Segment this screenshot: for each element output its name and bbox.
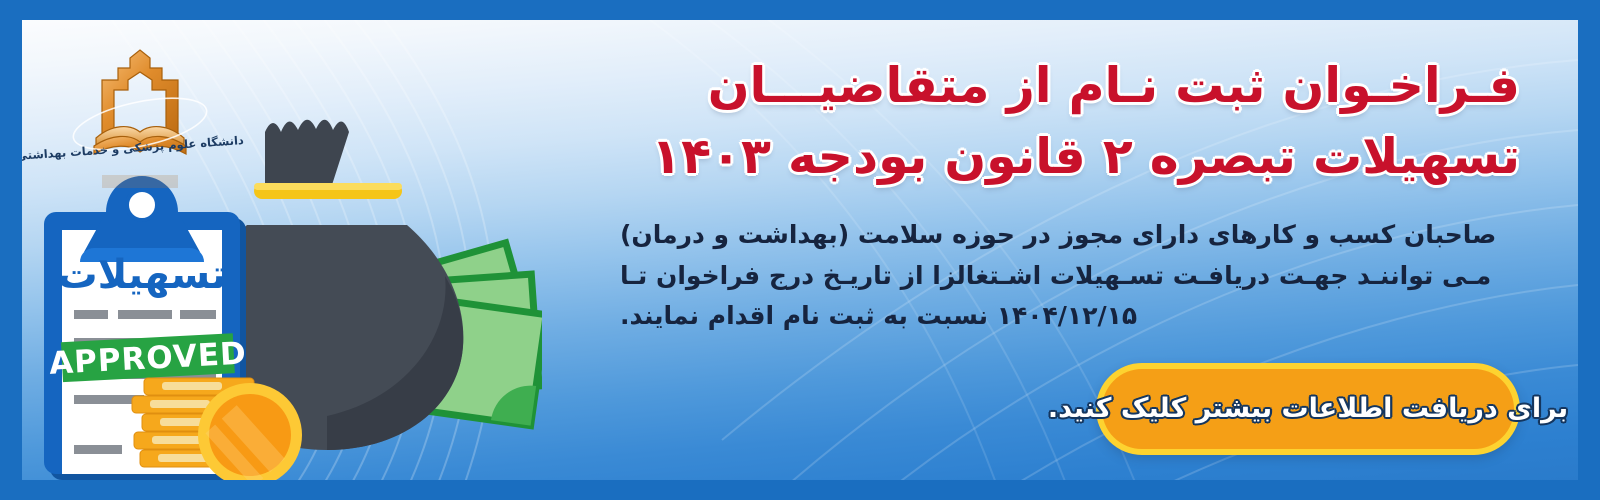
- clipboard-title: تسهیلات: [57, 252, 226, 298]
- headline-line-2: تسهیلات تبصره ۲ قانون بودجه ۱۴۰۳: [620, 125, 1520, 190]
- coin-stack-icon: [132, 378, 302, 480]
- body-paragraph: صاحبان کسب و کارهای دارای مجوز در حوزه س…: [620, 215, 1520, 337]
- more-info-button-label: برای دریافت اطلاعات بیشتر کلیک کنید.: [1048, 393, 1568, 424]
- banner-panel: تسهیلات APPROV: [22, 20, 1578, 480]
- university-logo: دانشگاه علوم پزشکی و خدمات بهداشتی درمان…: [40, 28, 250, 188]
- banner-content: فـراخـوان ثبت نـام از متقاضیـــان تسهیلا…: [620, 54, 1520, 455]
- more-info-button[interactable]: برای دریافت اطلاعات بیشتر کلیک کنید.: [1096, 363, 1520, 455]
- promotional-banner: تسهیلات APPROV: [0, 0, 1600, 500]
- body-line-3: ۱۴۰۴/۱۲/۱۵ نسبت به ثبت نام اقدام نمایند.: [620, 296, 1520, 337]
- body-line-1: صاحبان کسب و کارهای دارای مجوز در حوزه س…: [620, 215, 1520, 256]
- headline-line-1: فـراخـوان ثبت نـام از متقاضیـــان: [620, 54, 1520, 119]
- body-line-2: مـی تواننـد جهـت دریافـت تسـهیلات اشـتغا…: [620, 256, 1520, 297]
- cta-container: برای دریافت اطلاعات بیشتر کلیک کنید.: [620, 363, 1520, 455]
